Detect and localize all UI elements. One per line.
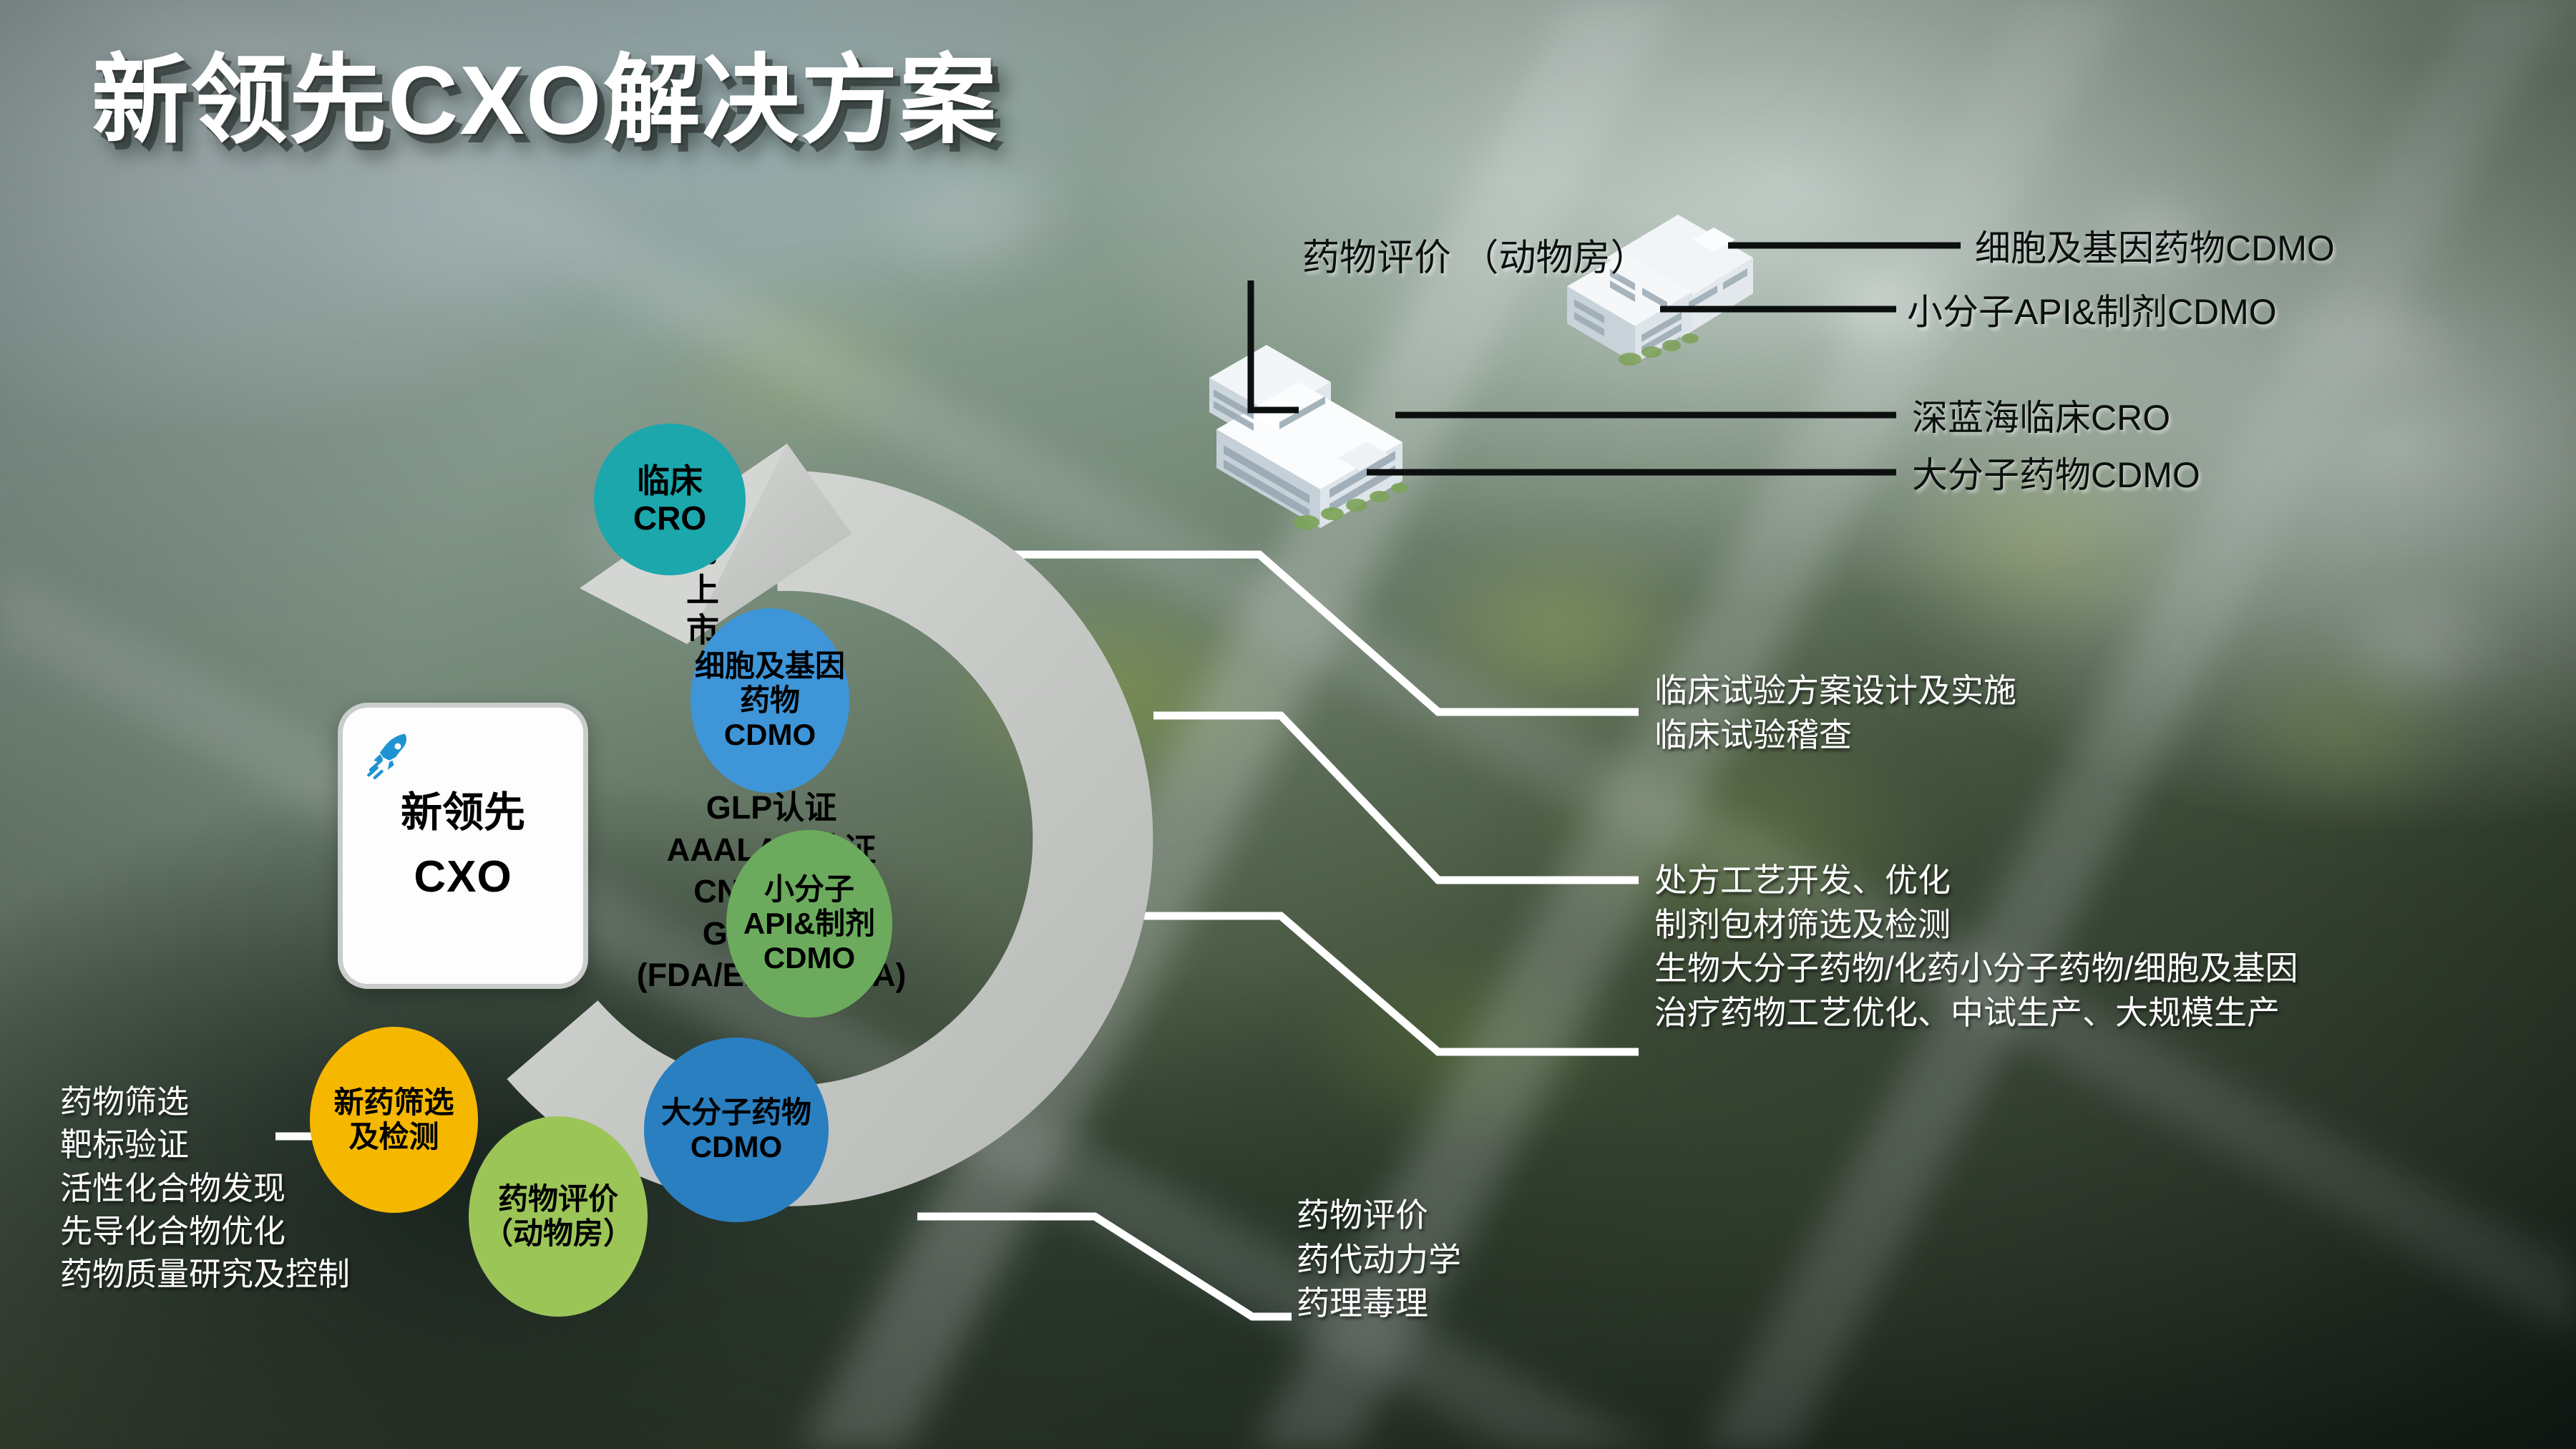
node-large-molecule-cdmo[interactable]: 大分子药物 CDMO [644,1038,829,1222]
node-small-molecule-cdmo-line2: API&制剂 [743,907,875,941]
node-cell-gene-cdmo-line2: 药物 [695,683,845,718]
node-small-molecule-cdmo[interactable]: 小分子 API&制剂 CDMO [726,830,892,1018]
node-drug-screening-line2: 及检测 [333,1120,454,1154]
node-cell-gene-cdmo-line1: 细胞及基因 [695,649,845,683]
node-drug-evaluation-line1: 药物评价 [483,1182,633,1216]
node-drug-screening-line1: 新药筛选 [333,1085,454,1120]
callout-small-molecule-cdmo: 小分子API&制剂CDMO [1907,291,2277,333]
node-drug-evaluation[interactable]: 药物评价 （动物房） [469,1116,648,1317]
node-clinical-cro[interactable]: 临床 CRO [594,424,746,575]
node-small-molecule-cdmo-line1: 小分子 [743,872,875,907]
rocket-icon [364,729,414,779]
infographic-canvas: 新领先CXO解决方案 药物评价 （动物房） 细胞及基因药物CDMO [0,0,2576,1449]
node-cell-gene-cdmo[interactable]: 细胞及基因 药物 CDMO [691,608,849,793]
node-large-molecule-cdmo-line1: 大分子药物 [661,1096,811,1130]
text-block-cdmo: 处方工艺开发、优化 制剂包材筛选及检测 生物大分子药物/化药小分子药物/细胞及基… [1654,859,2298,1035]
node-clinical-cro-line1: 临床 [633,462,706,499]
center-card-name-cn: 新领先 [401,792,525,834]
node-small-molecule-cdmo-line3: CDMO [743,941,875,975]
node-large-molecule-cdmo-line2: CDMO [661,1130,811,1164]
cxo-process-diagram: 药物上市 GLP认证 AAALAC 认证 CNAS认证 GMP认证 (FDA/E… [286,429,1302,1374]
center-brand-card[interactable]: 新领先 CXO [338,703,588,989]
node-clinical-cro-line2: CRO [633,499,706,537]
node-drug-evaluation-line2: （动物房） [483,1216,633,1251]
callout-large-molecule-cdmo: 大分子药物CDMO [1912,454,2200,496]
center-card-name-en: CXO [414,855,512,899]
text-block-discovery: 药物筛选 靶标验证 活性化合物发现 先导化合物优化 药物质量研究及控制 [60,1080,350,1296]
text-block-pharmacology: 药物评价 药代动力学 药理毒理 [1297,1194,1461,1326]
callout-shenlanhai-cro: 深蓝海临床CRO [1912,397,2170,439]
text-block-clinical: 临床试验方案设计及实施 临床试验稽查 [1654,669,2016,757]
node-cell-gene-cdmo-line3: CDMO [695,718,845,752]
callout-cell-gene-cdmo: 细胞及基因药物CDMO [1975,228,2335,269]
callout-animal-house: 药物评价 （动物房） [1302,236,1647,281]
